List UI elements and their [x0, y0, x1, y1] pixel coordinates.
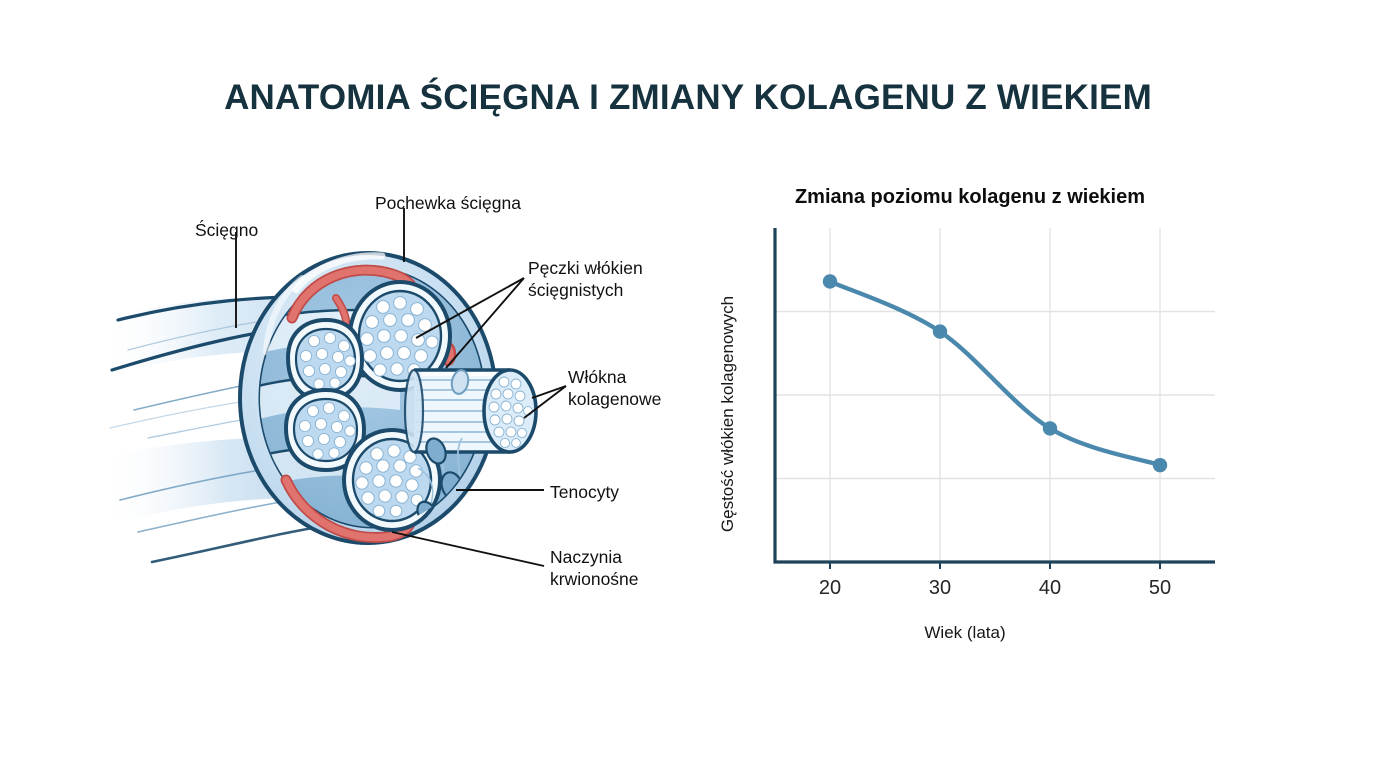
series-line — [830, 281, 1160, 465]
data-point-marker — [1043, 421, 1057, 435]
infographic-root: ANATOMIA ŚCIĘGNA I ZMIANY KOLAGENU Z WIE… — [0, 0, 1376, 768]
x-tick-label: 20 — [819, 577, 841, 599]
leader-wlokna-a — [532, 386, 566, 398]
label-peczki-wlokien-sciegnistych: Pęczki włókien ścięgnistych — [528, 257, 643, 301]
data-point-marker — [933, 324, 947, 338]
label-sciegno: Ścięgno — [195, 219, 258, 241]
chart-x-tick-labels: 20304050 — [819, 577, 1171, 599]
data-point-marker — [823, 274, 837, 288]
chart-axes — [775, 228, 1215, 569]
collagen-fiber-cylinder — [405, 370, 536, 452]
collagen-chart-panel: Zmiana poziomu kolagenu z wiekiem 203040… — [715, 170, 1255, 670]
label-pochewka-sciegna: Pochewka ścięgna — [375, 192, 521, 214]
tendon-anatomy-panel: Ścięgno Pochewka ścięgna Pęczki włókien … — [100, 170, 720, 640]
leader-naczynia — [392, 532, 544, 566]
collagen-line-chart: 20304050 Wiek (lata) Gęstość włókien kol… — [715, 214, 1235, 664]
data-point-marker — [1153, 458, 1167, 472]
chart-y-axis-label: Gęstość włókien kolagenowych — [718, 296, 737, 532]
label-tenocyty: Tenocyty — [550, 481, 619, 503]
label-wlokna-kolagenowe: Włókna kolagenowe — [568, 366, 661, 410]
label-naczynia-krwionosne: Naczynia krwionośne — [550, 546, 639, 590]
chart-title: Zmiana poziomu kolagenu z wiekiem — [715, 186, 1225, 209]
page-title: ANATOMIA ŚCIĘGNA I ZMIANY KOLAGENU Z WIE… — [0, 78, 1376, 118]
fascicle-bundle-2 — [288, 320, 362, 400]
x-tick-label: 40 — [1039, 577, 1061, 599]
chart-data-markers — [823, 274, 1167, 472]
chart-gridlines — [775, 228, 1215, 562]
x-tick-label: 50 — [1149, 577, 1171, 599]
x-tick-label: 30 — [929, 577, 951, 599]
chart-x-axis-label: Wiek (lata) — [924, 623, 1005, 642]
chart-series-line — [830, 281, 1160, 465]
